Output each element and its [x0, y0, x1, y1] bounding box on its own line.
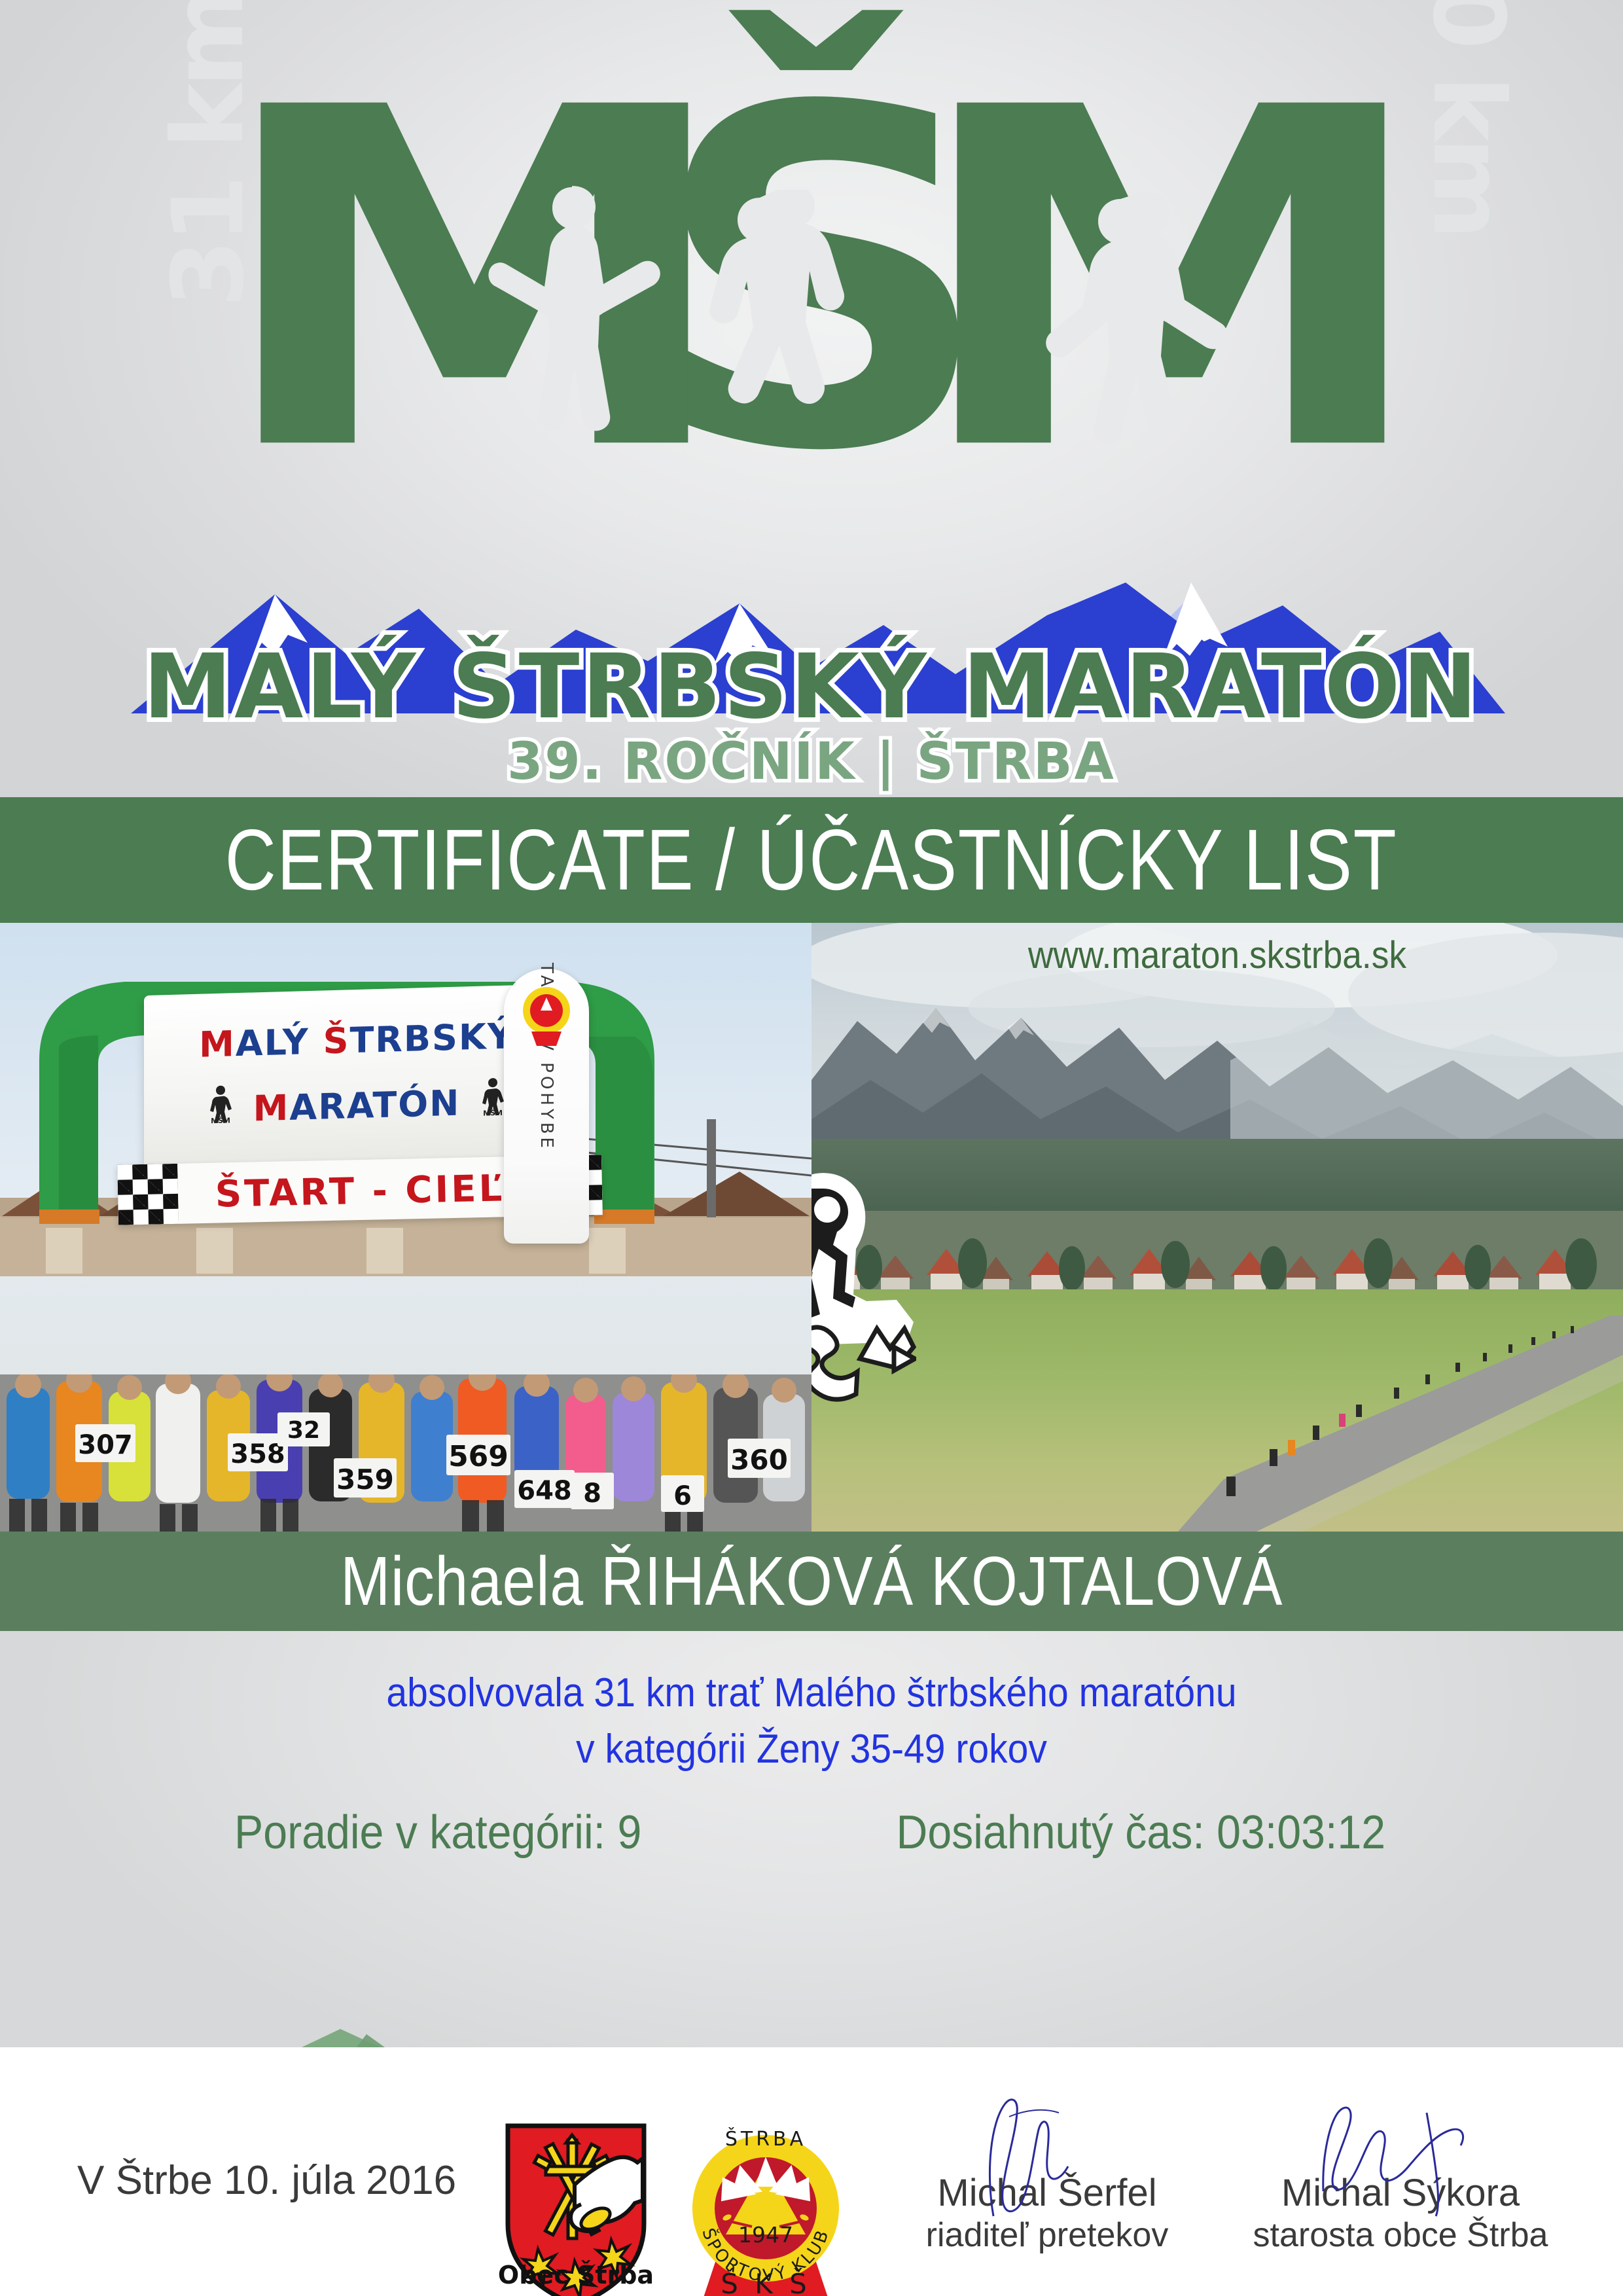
bib-number: 8 — [571, 1473, 614, 1509]
signature-role: starosta obce Štrba — [1211, 2215, 1590, 2255]
achievement-line-1: absolvovala 31 km trať Malého štrbského … — [65, 1665, 1558, 1721]
svg-text:MŠM: MŠM — [211, 1116, 230, 1124]
strba-village — [811, 1211, 1623, 1302]
signature-race-director: Michal Šerfel riaditeľ pretekov — [857, 2172, 1237, 2255]
distance-label-right: 10 km — [1411, 0, 1525, 236]
signature-name: Michal Šerfel — [857, 2172, 1237, 2215]
bib-number: 360 — [728, 1439, 791, 1478]
runner-silhouette-arms-up-icon — [1008, 190, 1243, 583]
tatry-v-pohybe-flag: TATRY V POHYBE — [504, 969, 589, 1244]
participant-name: Michaela ŘIHÁKOVÁ KOJTALOVÁ — [340, 1547, 1283, 1616]
runner-silhouette-female-icon — [658, 190, 874, 583]
finish-time: Dosiahnutý čas: 03:03:12 — [896, 1806, 1385, 1859]
signature-role: riaditeľ pretekov — [857, 2215, 1237, 2255]
certificate-title-band: CERTIFICATE / ÚČASTNÍCKY LIST — [0, 797, 1623, 923]
event-website-url[interactable]: www.maraton.skstrba.sk — [844, 933, 1591, 977]
msm-runner-badge-icon — [811, 1172, 916, 1414]
photo-strip: MALÝ ŠTRBSKÝ MARATÓN MŠM MŠM — [0, 923, 1623, 1532]
signature-mayor: Michal Sýkora starosta obce Štrba — [1211, 2172, 1590, 2255]
landscape-race-road — [1178, 1316, 1623, 1532]
bib-number: 648 — [514, 1470, 575, 1508]
start-finish-text: ŠTART - CIEĽ — [177, 1166, 542, 1217]
photo-race-start: MALÝ ŠTRBSKÝ MARATÓN MŠM MŠM — [0, 923, 811, 1532]
event-subtitle: 39. ROČNÍK | ŠTRBA — [0, 734, 1623, 789]
photo-tatra-landscape: www.maraton.skstrba.sk — [811, 923, 1623, 1532]
certificate-footer: V Štrbe 10. júla 2016 Obec Štrba — [0, 2047, 1623, 2296]
msm-logo: MŠM 31 km 10 km — [0, 26, 1623, 602]
distance-label-left: 31 km — [152, 0, 266, 308]
checker-left — [117, 1164, 179, 1225]
sks-initials: Š K Š — [721, 2267, 811, 2296]
inflatable-start-arch: MALÝ ŠTRBSKÝ MARATÓN MŠM MŠM — [20, 949, 674, 1224]
bib-number: 32 — [277, 1412, 330, 1446]
arch-runner-mark-left-icon: MŠM — [205, 1083, 236, 1124]
event-wordmark: MALÝ ŠTRBSKÝ MARATÓN — [0, 641, 1623, 733]
svg-text:MŠM: MŠM — [483, 1109, 503, 1117]
runner-crowd: 307 358 32 359 569 648 8 6 360 — [0, 1374, 811, 1532]
event-subtitle-text: 39. ROČNÍK | ŠTRBA — [507, 732, 1116, 791]
bib-number: 569 — [446, 1435, 510, 1475]
achievement-line-2: v kategórii Ženy 35-49 rokov — [65, 1721, 1558, 1778]
sks-club-emblem-icon: ŠTRBA 1947 ŠPORTOVÝ KLUB Š K Š — [684, 2118, 847, 2296]
certificate-page: MŠM 31 km 10 km — [0, 0, 1623, 2296]
sks-top-text: ŠTRBA — [725, 2126, 806, 2151]
municipality-label: Obec Štrba — [497, 2261, 654, 2289]
result-row: Poradie v kategórii: 9 Dosiahnutý čas: 0… — [0, 1806, 1623, 1859]
bib-number: 6 — [661, 1475, 704, 1512]
participant-name-band: Michaela ŘIHÁKOVÁ KOJTALOVÁ — [0, 1532, 1623, 1631]
issue-date: V Štrbe 10. júla 2016 — [77, 2157, 456, 2204]
logo-header: MŠM 31 km 10 km — [0, 0, 1623, 797]
bib-number: 307 — [75, 1424, 135, 1462]
bib-number: 359 — [334, 1458, 397, 1498]
signature-name: Michal Sýkora — [1211, 2172, 1590, 2215]
category-rank: Poradie v kategórii: 9 — [234, 1806, 641, 1859]
event-wordmark-text: MALÝ ŠTRBSKÝ MARATÓN — [143, 636, 1480, 739]
certificate-title: CERTIFICATE / ÚČASTNÍCKY LIST — [225, 817, 1398, 903]
sks-flag-badge-icon — [518, 980, 575, 1050]
achievement-description: absolvovala 31 km trať Malého štrbského … — [65, 1665, 1558, 1778]
sks-year: 1947 — [738, 2222, 793, 2248]
